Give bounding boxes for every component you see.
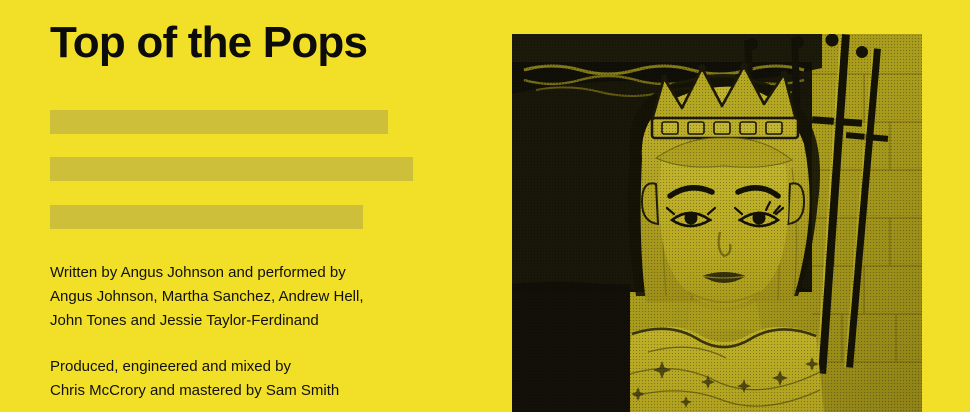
redacted-bar-3 (50, 205, 363, 229)
redacted-bar-1 (50, 110, 388, 134)
cover-photo (512, 34, 922, 412)
credits-block-written-performed: Written by Angus Johnson and performed b… (50, 261, 470, 333)
credit-line: Chris McCrory and mastered by Sam Smith (50, 379, 470, 403)
poster-root: Top of the Pops Written by Angus Johnson… (0, 0, 970, 412)
redacted-bar-2 (50, 157, 413, 181)
cover-photo-artwork (512, 34, 922, 412)
credit-line: Produced, engineered and mixed by (50, 355, 470, 379)
credit-line: Angus Johnson, Martha Sanchez, Andrew He… (50, 285, 470, 309)
credit-line: John Tones and Jessie Taylor-Ferdinand (50, 309, 470, 333)
cover-photo-illustration (512, 34, 922, 412)
credit-line: Written by Angus Johnson and performed b… (50, 261, 470, 285)
page-title: Top of the Pops (50, 18, 367, 67)
credits-section: Written by Angus Johnson and performed b… (50, 261, 470, 412)
left-content-column: Top of the Pops Written by Angus Johnson… (50, 0, 490, 412)
credits-block-production: Produced, engineered and mixed by Chris … (50, 355, 470, 403)
